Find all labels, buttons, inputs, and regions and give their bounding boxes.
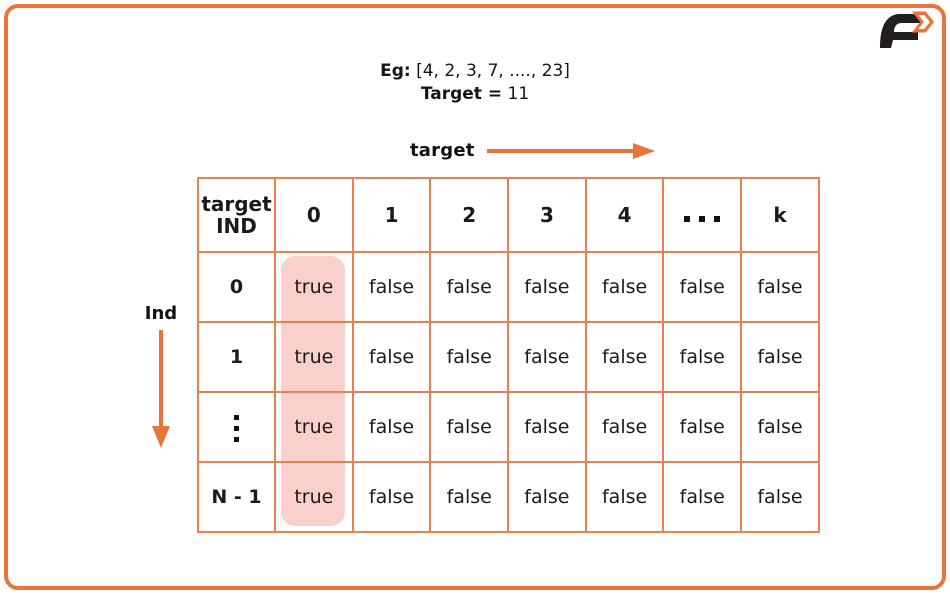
ind-axis-label: Ind	[145, 303, 177, 324]
cell-r0-c5: false	[663, 252, 741, 322]
right-arrow-icon	[487, 141, 655, 161]
down-arrow-icon	[150, 330, 172, 448]
cell-r1-c3: false	[508, 322, 586, 392]
row-label-n-minus-1: N - 1	[198, 462, 275, 532]
cell-r2-c6: false	[741, 392, 819, 462]
table-row: 1 true false false false false false fal…	[198, 322, 819, 392]
table-corner-header: target IND	[198, 178, 275, 252]
cell-r2-c5: false	[663, 392, 741, 462]
example-caption: Eg: [4, 2, 3, 7, ...., 23] Target = 11	[0, 60, 950, 106]
example-target-value: 11	[502, 84, 529, 104]
cell-r3-c3: false	[508, 462, 586, 532]
dp-table: target IND 0 1 2 3 4 k 0 true false fals…	[197, 177, 820, 533]
cell-r3-c6: false	[741, 462, 819, 532]
takeuforward-f-logo	[874, 8, 936, 52]
cell-r1-c2: false	[430, 322, 508, 392]
cell-r3-c4: false	[586, 462, 664, 532]
example-target-label: Target =	[421, 84, 502, 104]
corner-header-line2: IND	[216, 214, 257, 238]
ind-axis-annotation: Ind	[131, 303, 191, 448]
cell-r3-c5: false	[663, 462, 741, 532]
column-header-3: 3	[508, 178, 586, 252]
column-header-ellipsis	[663, 178, 741, 252]
cell-r1-c5: false	[663, 322, 741, 392]
column-header-0: 0	[275, 178, 353, 252]
row-label-0: 0	[198, 252, 275, 322]
target-axis-annotation: target	[410, 140, 655, 161]
column-header-1: 1	[353, 178, 431, 252]
cell-r2-c2: false	[430, 392, 508, 462]
column-header-k: k	[741, 178, 819, 252]
table-row: N - 1 true false false false false false…	[198, 462, 819, 532]
table-row: 0 true false false false false false fal…	[198, 252, 819, 322]
cell-r2-c0: true	[275, 392, 353, 462]
cell-r0-c2: false	[430, 252, 508, 322]
slide-canvas: Eg: [4, 2, 3, 7, ...., 23] Target = 11 t…	[0, 0, 950, 594]
cell-r2-c4: false	[586, 392, 664, 462]
target-axis-label: target	[410, 140, 475, 161]
cell-r1-c6: false	[741, 322, 819, 392]
cell-r0-c1: false	[353, 252, 431, 322]
cell-r2-c1: false	[353, 392, 431, 462]
cell-r3-c2: false	[430, 462, 508, 532]
cell-r0-c0: true	[275, 252, 353, 322]
example-eg-label: Eg:	[380, 61, 411, 81]
vertical-ellipsis-icon	[234, 407, 239, 451]
row-label-ellipsis	[198, 392, 275, 462]
table-header-row: target IND 0 1 2 3 4 k	[198, 178, 819, 252]
example-array-value: [4, 2, 3, 7, ...., 23]	[411, 61, 570, 81]
column-header-4: 4	[586, 178, 664, 252]
cell-r3-c0: true	[275, 462, 353, 532]
cell-r0-c4: false	[586, 252, 664, 322]
example-target-line: Target = 11	[0, 83, 950, 106]
table-row: true false false false false false false	[198, 392, 819, 462]
cell-r1-c4: false	[586, 322, 664, 392]
column-header-2: 2	[430, 178, 508, 252]
cell-r3-c1: false	[353, 462, 431, 532]
corner-header-line1: target	[201, 192, 271, 216]
cell-r2-c3: false	[508, 392, 586, 462]
example-array-line: Eg: [4, 2, 3, 7, ...., 23]	[0, 60, 950, 83]
cell-r1-c0: true	[275, 322, 353, 392]
cell-r1-c1: false	[353, 322, 431, 392]
horizontal-ellipsis-icon	[684, 216, 720, 222]
row-label-1: 1	[198, 322, 275, 392]
cell-r0-c3: false	[508, 252, 586, 322]
cell-r0-c6: false	[741, 252, 819, 322]
